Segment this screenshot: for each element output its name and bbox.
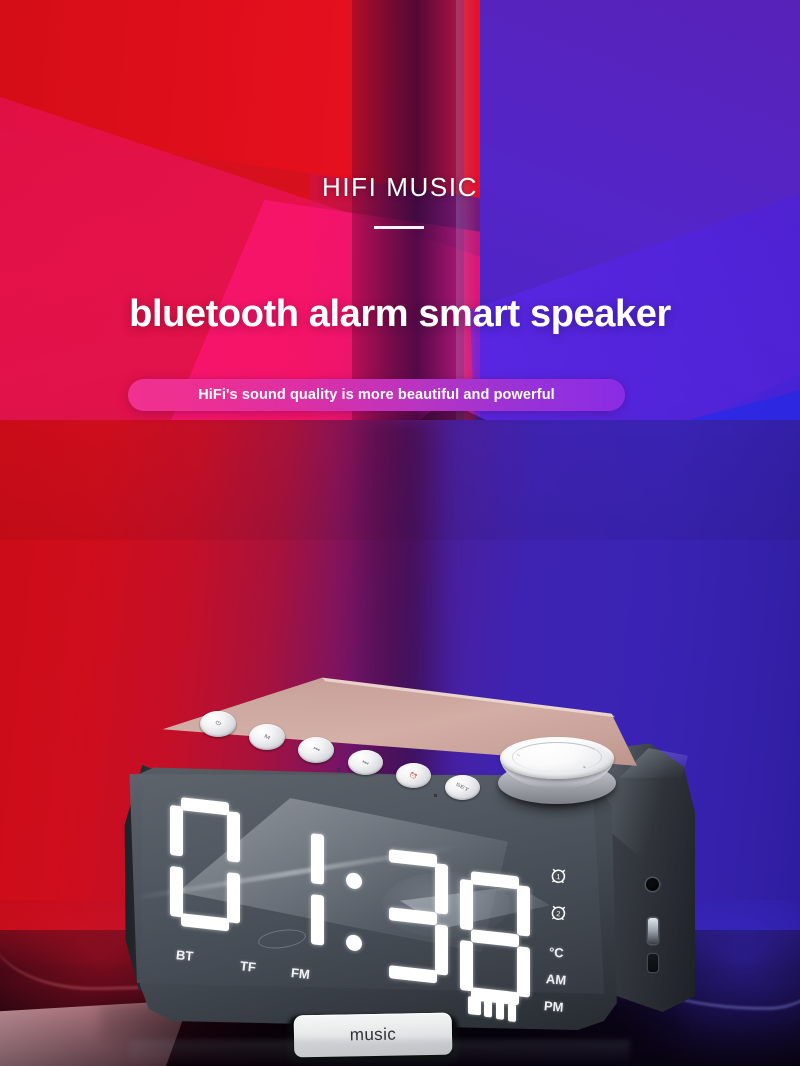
led-digit-3 xyxy=(378,848,452,988)
power-button-glyph: ⏻ xyxy=(214,720,222,728)
aux-jack-port xyxy=(646,878,659,891)
mode-button-glyph: M xyxy=(263,733,271,740)
led-digit-1 xyxy=(170,796,244,936)
led-digit-2 xyxy=(254,818,328,958)
next-track-button[interactable]: ⏭ xyxy=(348,750,383,775)
set-button-glyph: SET xyxy=(455,782,470,793)
next-track-button-glyph: ⏭ xyxy=(361,758,369,766)
display-label-am: AM xyxy=(545,971,566,988)
led-clock-display xyxy=(168,796,568,1008)
volume-knob-scale xyxy=(512,742,602,772)
alarm-2-icon: 2 xyxy=(548,902,569,923)
display-label-bt: BT xyxy=(175,947,194,964)
prev-track-button-glyph: ⏮ xyxy=(312,746,320,754)
speaker-product-photo: ⏻ M ⏮ ⏭ ⏰ SET − + xyxy=(0,0,800,1066)
display-label-fm: FM xyxy=(290,965,310,982)
svg-text:1: 1 xyxy=(556,872,561,881)
display-label-pm: PM xyxy=(543,998,564,1015)
promo-banner: HIFI MUSIC bluetooth alarm smart speaker… xyxy=(0,0,800,1066)
product-table-reflection xyxy=(130,1040,630,1066)
alarm-button[interactable]: ⏰ xyxy=(396,763,431,788)
tf-card-slot xyxy=(648,954,658,972)
svg-text:2: 2 xyxy=(556,909,561,918)
alarm-button-glyph: ⏰ xyxy=(408,771,419,780)
power-button[interactable]: ⏻ xyxy=(200,711,236,737)
usb-port xyxy=(648,918,658,944)
prev-track-button[interactable]: ⏮ xyxy=(298,737,334,763)
alarm-1-icon: 1 xyxy=(548,865,569,886)
display-temp-unit: °C xyxy=(548,944,564,960)
mode-button[interactable]: M xyxy=(249,724,285,750)
indicator-led-1 xyxy=(337,768,340,771)
display-label-tf: TF xyxy=(239,958,256,975)
led-digit-4 xyxy=(460,870,534,1010)
